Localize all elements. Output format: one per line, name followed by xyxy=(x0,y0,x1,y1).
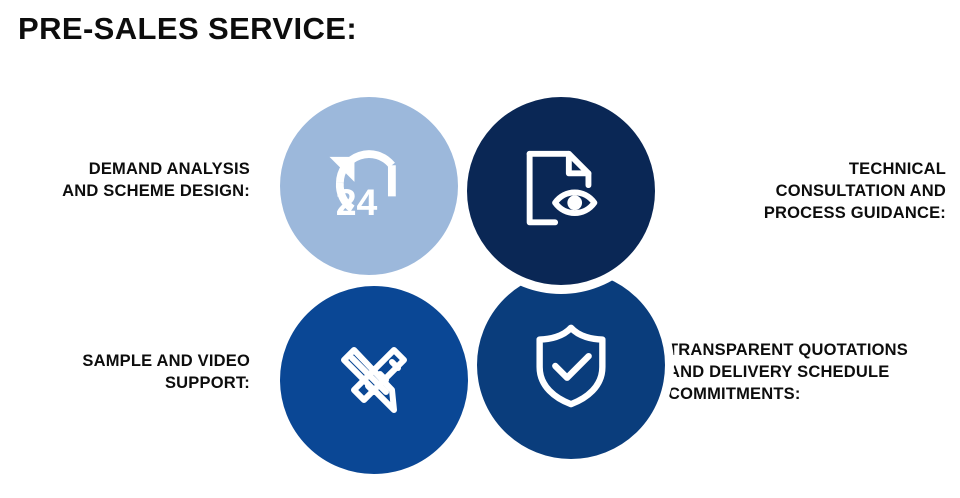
page-title: PRE-SALES SERVICE: xyxy=(18,12,357,46)
label-line: AND SCHEME DESIGN: xyxy=(10,181,250,203)
label-line: SAMPLE AND VIDEO xyxy=(10,351,250,373)
icon-text-24: 24 xyxy=(336,181,378,223)
label-line: CONSULTATION AND xyxy=(714,181,946,203)
label-line: TRANSPARENT QUOTATIONS xyxy=(668,340,960,362)
label-sample-video-support: SAMPLE AND VIDEO SUPPORT: xyxy=(10,351,250,395)
label-line: AND DELIVERY SCHEDULE xyxy=(668,362,960,384)
shield-check-icon xyxy=(522,316,620,414)
label-line: DEMAND ANALYSIS xyxy=(10,159,250,181)
circle-sample-video-support[interactable] xyxy=(271,277,477,483)
circle-cluster: 24 xyxy=(262,78,674,493)
label-technical-consultation: TECHNICAL CONSULTATION AND PROCESS GUIDA… xyxy=(714,159,946,225)
label-transparent-quotations: TRANSPARENT QUOTATIONS AND DELIVERY SCHE… xyxy=(668,340,960,406)
label-demand-analysis: DEMAND ANALYSIS AND SCHEME DESIGN: xyxy=(10,159,250,203)
circle-technical-consultation[interactable] xyxy=(458,88,664,294)
label-line: COMMITMENTS: xyxy=(668,384,960,406)
label-line: SUPPORT: xyxy=(10,373,250,395)
label-line: TECHNICAL xyxy=(714,159,946,181)
document-eye-icon xyxy=(512,142,610,240)
circle-demand-analysis[interactable]: 24 xyxy=(271,88,467,284)
24-hour-rotate-icon: 24 xyxy=(317,134,421,238)
pre-sales-service-infographic: PRE-SALES SERVICE: 24 xyxy=(0,0,960,498)
pen-ruler-icon xyxy=(324,330,424,430)
label-line: PROCESS GUIDANCE: xyxy=(714,203,946,225)
